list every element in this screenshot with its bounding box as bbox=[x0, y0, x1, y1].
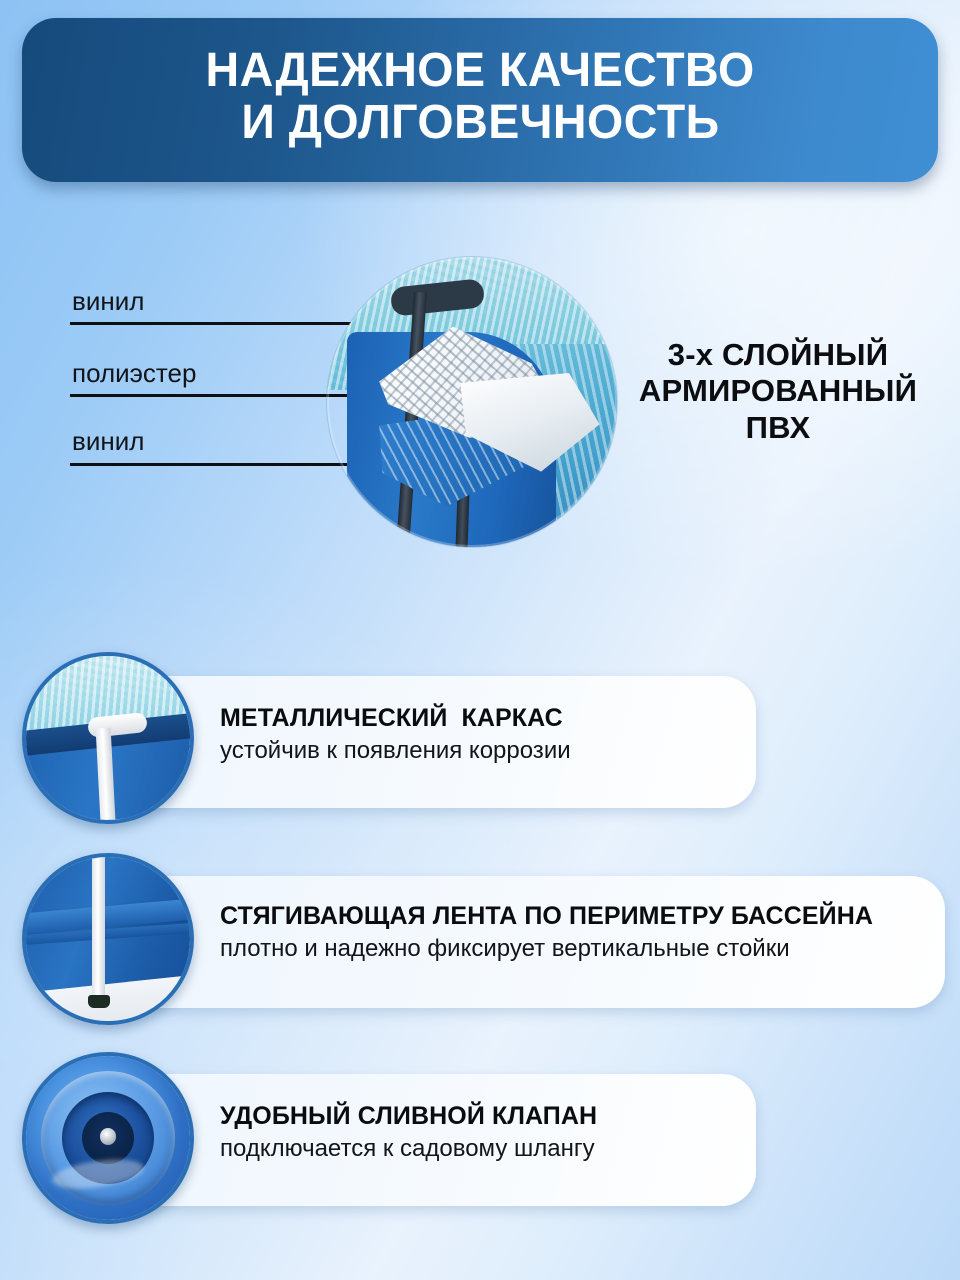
callout-label-vinyl-top: винил bbox=[72, 288, 144, 314]
drain-valve-photo bbox=[22, 1052, 194, 1224]
pvc-layers-section: винил полиэстер винил 3-х СЛОЙНЫЙ АРМИРО… bbox=[0, 205, 960, 585]
pvc-layers-photo bbox=[327, 257, 617, 547]
feature-title-tension-band: СТЯГИВАЮЩАЯ ЛЕНТА ПО ПЕРИМЕТРУ БАССЕЙНА bbox=[220, 902, 873, 930]
banner-title-line-2: И ДОЛГОВЕЧНОСТЬ bbox=[241, 97, 719, 149]
feature-subtitle-tension-band: плотно и надежно фиксирует вертикальные … bbox=[220, 935, 873, 963]
band-photo-leg bbox=[92, 857, 105, 1001]
banner-title-line-1: НАДЕЖНОЕ КАЧЕСТВО bbox=[205, 45, 754, 97]
tension-band-photo bbox=[22, 853, 194, 1025]
pvc-headline-line-1: 3-х СЛОЙНЫЙ bbox=[620, 337, 936, 373]
feature-text-tension-band: СТЯГИВАЮЩАЯ ЛЕНТА ПО ПЕРИМЕТРУ БАССЕЙНА … bbox=[220, 902, 873, 963]
infographic-page: НАДЕЖНОЕ КАЧЕСТВО И ДОЛГОВЕЧНОСТЬ винил … bbox=[0, 0, 960, 1280]
pvc-headline-line-2: АРМИРОВАННЫЙ bbox=[620, 373, 936, 409]
feature-title-drain-valve: УДОБНЫЙ СЛИВНОЙ КЛАПАН bbox=[220, 1102, 597, 1130]
callout-label-vinyl-bottom: винил bbox=[72, 428, 144, 454]
callout-label-polyester: полиэстер bbox=[72, 360, 196, 386]
feature-text-metal-frame: МЕТАЛЛИЧЕСКИЙ КАРКАС устойчив к появлени… bbox=[220, 704, 571, 765]
feature-subtitle-drain-valve: подключается к садовому шлангу bbox=[220, 1135, 597, 1163]
feature-text-drain-valve: УДОБНЫЙ СЛИВНОЙ КЛАПАН подключается к са… bbox=[220, 1102, 597, 1163]
band-photo-foot bbox=[88, 995, 111, 1008]
metal-frame-photo bbox=[22, 652, 194, 824]
callout-leader-line-2 bbox=[70, 394, 370, 397]
header-banner: НАДЕЖНОЕ КАЧЕСТВО И ДОЛГОВЕЧНОСТЬ bbox=[22, 18, 938, 182]
feature-title-metal-frame: МЕТАЛЛИЧЕСКИЙ КАРКАС bbox=[220, 704, 571, 732]
pvc-headline-line-3: ПВХ bbox=[620, 410, 936, 446]
valve-photo-screw bbox=[100, 1128, 116, 1144]
pvc-headline: 3-х СЛОЙНЫЙ АРМИРОВАННЫЙ ПВХ bbox=[620, 337, 936, 446]
feature-subtitle-metal-frame: устойчив к появления коррозии bbox=[220, 737, 571, 765]
photo-inner-ring bbox=[327, 257, 617, 547]
